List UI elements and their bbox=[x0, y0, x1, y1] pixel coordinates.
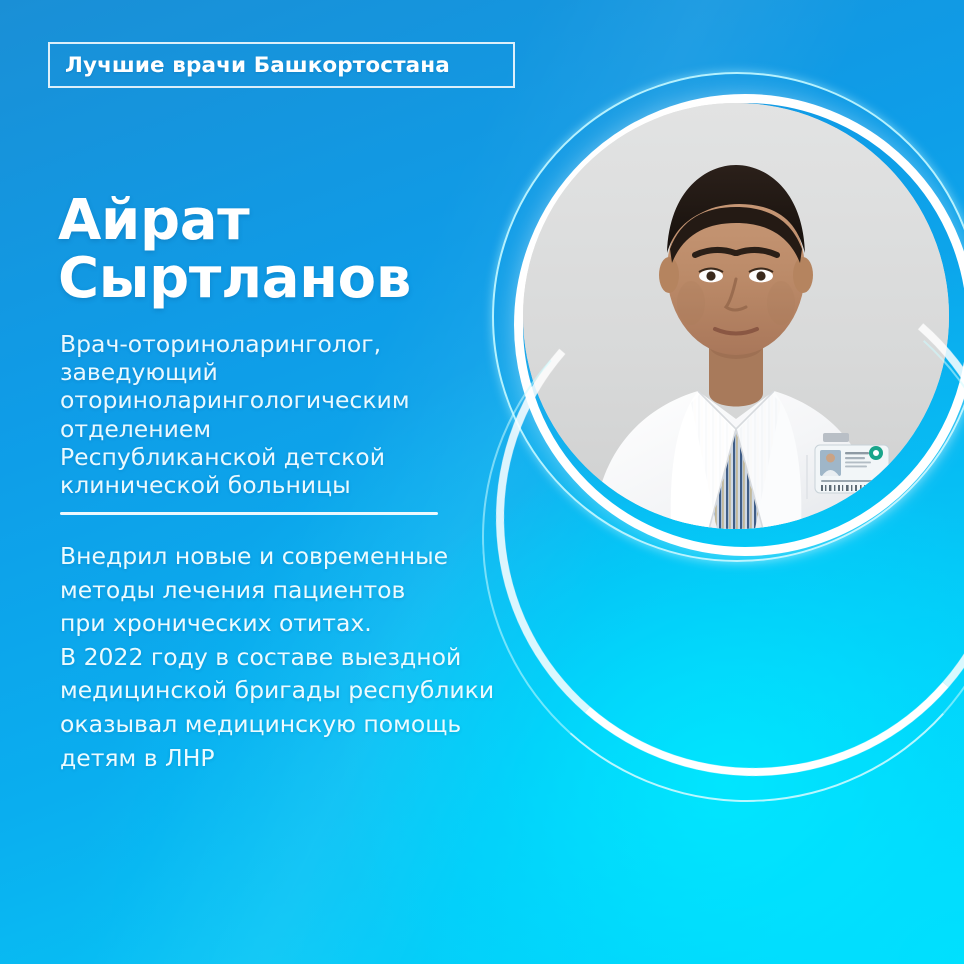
doctor-role: Врач-оториноларинголог, заведующий отори… bbox=[60, 330, 530, 499]
bio-line: оказывал медицинскую помощь bbox=[60, 708, 580, 742]
role-line: клинической больницы bbox=[60, 471, 530, 499]
doctor-last-name: Сыртланов bbox=[58, 250, 518, 308]
bio-line: детям в ЛНР bbox=[60, 742, 580, 776]
header-badge: Лучшие врачи Башкортостана bbox=[48, 42, 515, 88]
role-line: Республиканской детской bbox=[60, 443, 530, 471]
role-line: заведующий bbox=[60, 358, 530, 386]
doctor-first-name: Айрат bbox=[58, 188, 249, 253]
doctor-name: Айрат Сыртланов bbox=[58, 192, 518, 308]
poster-root: Лучшие врачи Башкортостана Айрат Сыртлан… bbox=[0, 0, 964, 964]
section-divider bbox=[60, 512, 438, 515]
role-line: отделением bbox=[60, 415, 530, 443]
role-line: оториноларингологическим bbox=[60, 386, 530, 414]
portrait-container bbox=[486, 64, 964, 704]
role-line: Врач-оториноларинголог, bbox=[60, 330, 530, 358]
header-badge-label: Лучшие врачи Башкортостана bbox=[50, 53, 450, 78]
